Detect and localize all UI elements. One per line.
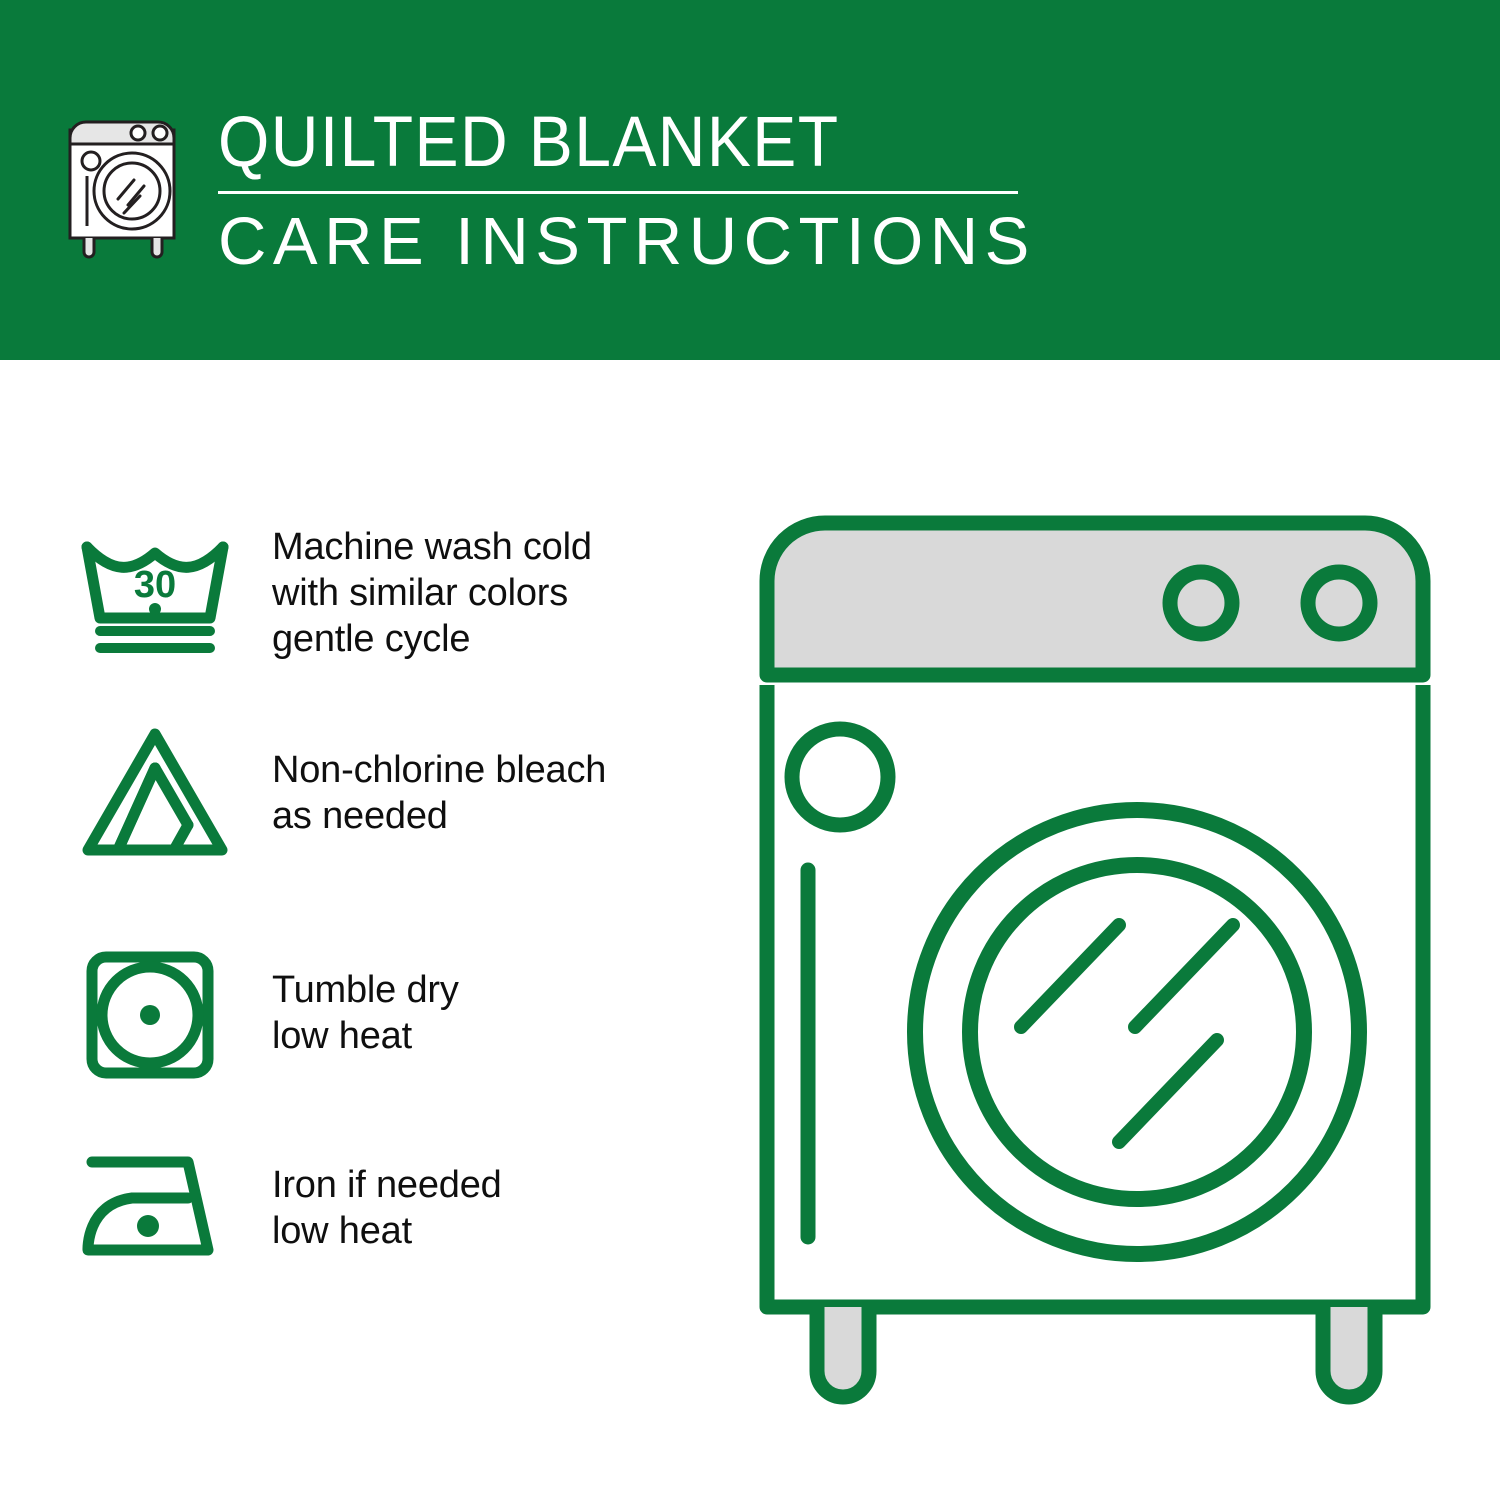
care-label-line: Machine wash cold <box>272 524 592 570</box>
detergent-dispenser[interactable] <box>792 729 888 825</box>
wash-tub-30-gentle-icon: 30 <box>70 525 245 660</box>
header-text-block: QUILTED BLANKET CARE INSTRUCTIONS <box>218 104 1028 280</box>
care-label-dry: Tumble dry low heat <box>245 967 459 1059</box>
page-subtitle: CARE INSTRUCTIONS <box>218 204 1028 280</box>
care-label-bleach: Non-chlorine bleach as needed <box>245 747 606 839</box>
care-label-line: as needed <box>272 793 606 839</box>
leg-right <box>1323 1307 1375 1397</box>
care-label-iron: Iron if needed low heat <box>245 1162 502 1254</box>
tumble-dry-low-icon <box>70 943 245 1083</box>
front-load-washing-machine-illustration <box>745 505 1445 1415</box>
title-divider <box>218 191 1018 194</box>
care-row-wash: 30 Machine wash cold with similar colors… <box>70 505 730 680</box>
care-row-iron: Iron if needed low heat <box>70 1120 730 1295</box>
care-label-line: gentle cycle <box>272 616 592 662</box>
care-label-line: with similar colors <box>272 570 592 616</box>
header-banner: QUILTED BLANKET CARE INSTRUCTIONS <box>0 0 1500 360</box>
care-label-line: Tumble dry <box>272 967 459 1013</box>
care-row-dry: Tumble dry low heat <box>70 905 730 1120</box>
care-label-line: low heat <box>272 1208 502 1254</box>
care-label-line: low heat <box>272 1013 459 1059</box>
care-instruction-list: 30 Machine wash cold with similar colors… <box>70 505 730 1295</box>
care-row-bleach: Non-chlorine bleach as needed <box>70 680 730 905</box>
care-label-wash: Machine wash cold with similar colors ge… <box>245 524 592 662</box>
knob-right[interactable] <box>1308 572 1370 634</box>
page-title: QUILTED BLANKET <box>218 104 971 182</box>
iron-low-heat-icon <box>70 1148 245 1268</box>
wash-temperature-label: 30 <box>134 564 176 606</box>
care-label-line: Non-chlorine bleach <box>272 747 606 793</box>
care-instructions-infographic: QUILTED BLANKET CARE INSTRUCTIONS 30 <box>0 0 1500 1500</box>
non-chlorine-bleach-triangle-icon <box>70 720 245 865</box>
care-label-line: Iron if needed <box>272 1162 502 1208</box>
knob-left[interactable] <box>1170 572 1232 634</box>
washing-machine-icon <box>62 100 194 260</box>
leg-left <box>817 1307 869 1397</box>
